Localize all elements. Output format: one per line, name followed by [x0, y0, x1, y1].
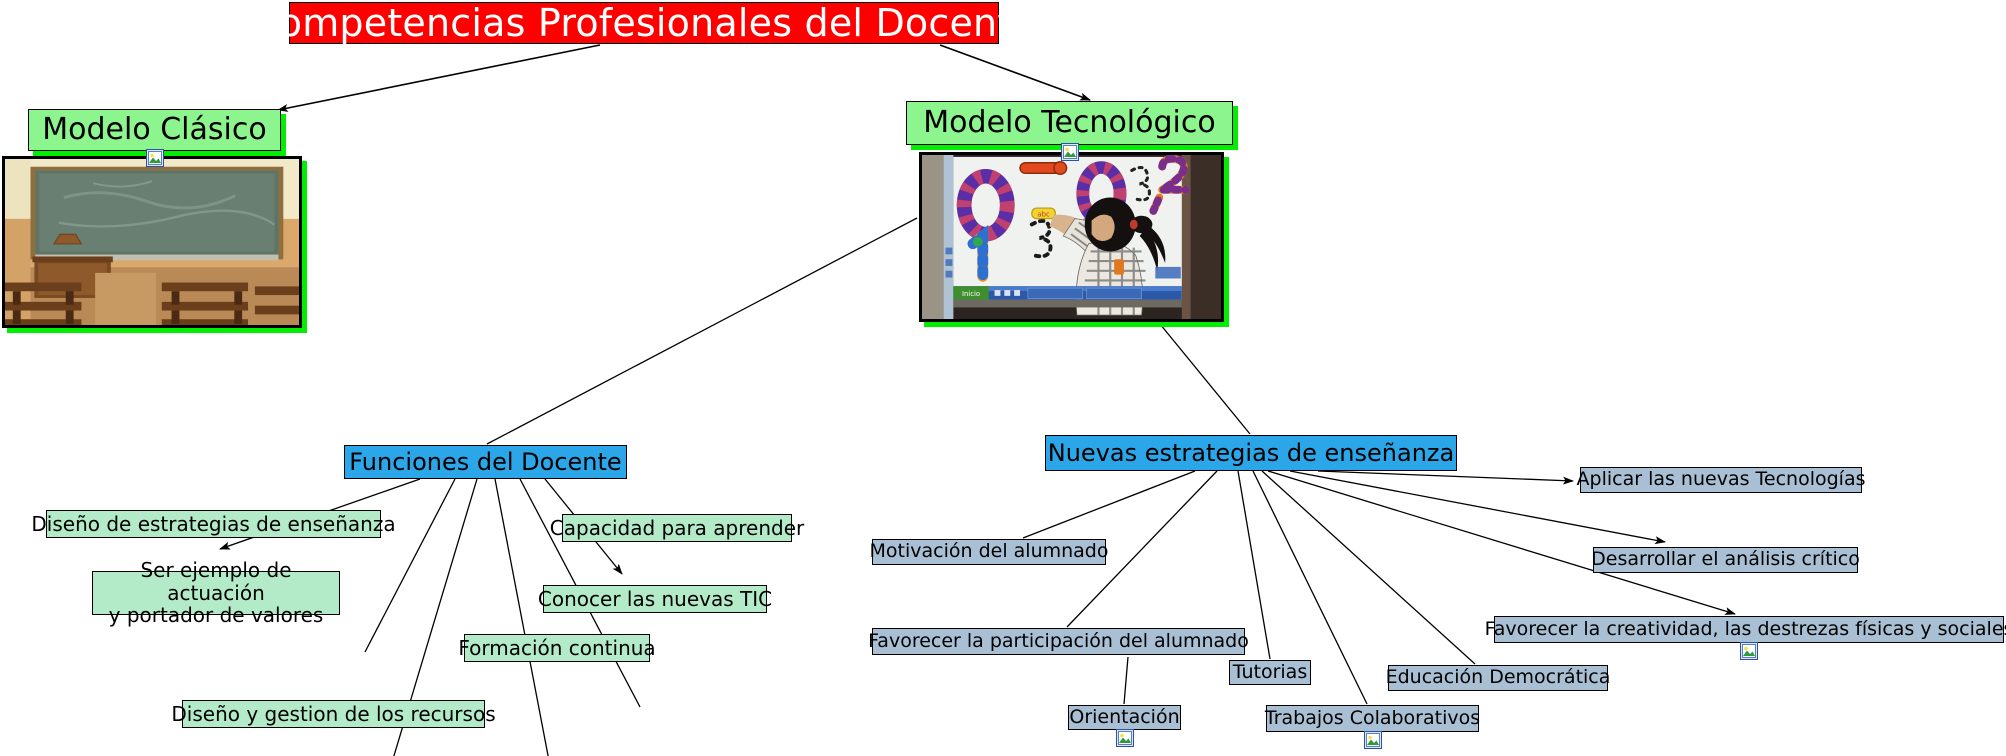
svg-text:abc: abc [1037, 211, 1050, 219]
node-trabajos-colaborativos[interactable]: Trabajos Colaborativos [1266, 705, 1479, 732]
node-formacion-continua[interactable]: Formación continua [464, 634, 650, 662]
node-diseno-gestion-recursos[interactable]: Diseño y gestion de los recursos [182, 700, 485, 728]
picture-icon[interactable] [1740, 642, 1758, 660]
edge-n5-n6 [1124, 657, 1128, 704]
node-modelo-tecnologico[interactable]: Modelo Tecnológico [906, 101, 1233, 145]
edge-root-to-modelo-clasico [278, 45, 600, 110]
node-funciones-del-docente[interactable]: Funciones del Docente [344, 445, 627, 479]
node-ser-ejemplo-actuacion[interactable]: Ser ejemplo de actuación y portador de v… [92, 571, 340, 615]
picture-icon[interactable] [146, 149, 164, 167]
root-node-competencias[interactable]: Competencias Profesionales del Docente [289, 2, 999, 44]
classroom-photo [2, 156, 302, 328]
edge-tecnologico-to-estrategias [1160, 324, 1250, 434]
node-nuevas-estrategias-ensenanza[interactable]: Nuevas estrategias de enseñanza [1045, 435, 1457, 471]
node-diseno-estrategias-ensenanza[interactable]: Diseño de estrategias de enseñanza [46, 510, 381, 538]
node-desarrollar-analisis-critico[interactable]: Desarrollar el análisis crítico [1593, 547, 1858, 573]
node-capacidad-para-aprender[interactable]: Capacidad para aprender [562, 514, 792, 542]
picture-icon[interactable] [1061, 143, 1079, 161]
picture-icon[interactable] [1116, 729, 1134, 747]
picture-icon[interactable] [1364, 731, 1382, 749]
interactive-whiteboard-photo: abc [919, 152, 1224, 322]
node-motivacion-alumnado[interactable]: Motivación del alumnado [872, 539, 1106, 565]
node-aplicar-nuevas-tecnologias[interactable]: Aplicar las nuevas Tecnologías [1580, 467, 1862, 493]
edge-estrategias-n4 [1023, 471, 1195, 538]
node-tutorias[interactable]: Tutorias [1229, 660, 1311, 685]
concept-map-canvas: Competencias Profesionales del Docente M… [0, 0, 2006, 756]
node-modelo-clasico[interactable]: Modelo Clásico [28, 109, 281, 151]
edge-root-to-modelo-tecnologico [940, 45, 1090, 100]
node-conocer-nuevas-tic[interactable]: Conocer las nuevas TIC [543, 585, 767, 613]
svg-text:Inicio: Inicio [962, 290, 980, 298]
edge-funciones-f2 [365, 479, 455, 652]
node-educacion-democratica[interactable]: Educación Democrática [1388, 665, 1608, 691]
node-orientacion[interactable]: Orientación [1068, 705, 1181, 730]
edge-estrategias-n1 [1318, 471, 1573, 481]
node-favorecer-participacion-alumnado[interactable]: Favorecer la participación del alumnado [872, 628, 1245, 655]
node-favorecer-creatividad[interactable]: Favorecer la creatividad, las destrezas … [1494, 616, 2004, 643]
edge-tecnologico-to-funciones [487, 218, 917, 444]
